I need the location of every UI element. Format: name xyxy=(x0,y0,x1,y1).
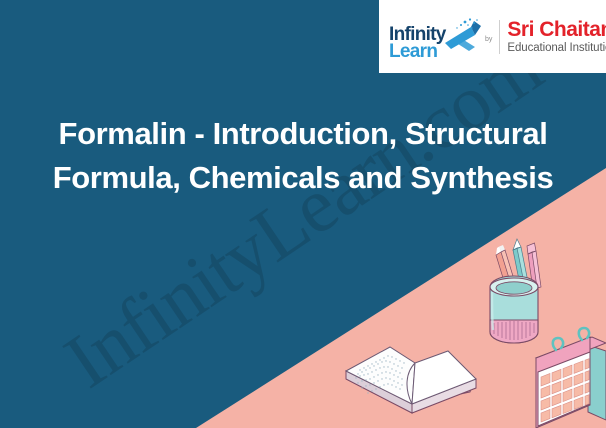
infinity-learn-word-learn: Learn xyxy=(389,42,437,61)
cover-canvas: InfinityLearn.com xyxy=(0,0,606,428)
sri-chaitanya-logo[interactable]: Sri Chaitanya Educational Institutions xyxy=(507,19,606,55)
logo-divider xyxy=(499,20,500,54)
sri-chaitanya-subtitle: Educational Institutions xyxy=(507,43,606,55)
by-label: by xyxy=(485,30,492,43)
page-title-wrap: Formalin - Introduction, Structural Form… xyxy=(0,112,606,200)
infinity-learn-logo[interactable]: Infinity Learn xyxy=(389,11,481,63)
infinity-swoosh-icon xyxy=(441,17,485,59)
sri-chaitanya-name: Sri Chaitanya xyxy=(507,19,606,40)
page-title: Formalin - Introduction, Structural Form… xyxy=(14,112,592,200)
brand-logo-plate[interactable]: Infinity Learn by Sri Chaitanya Educatio… xyxy=(379,0,606,73)
